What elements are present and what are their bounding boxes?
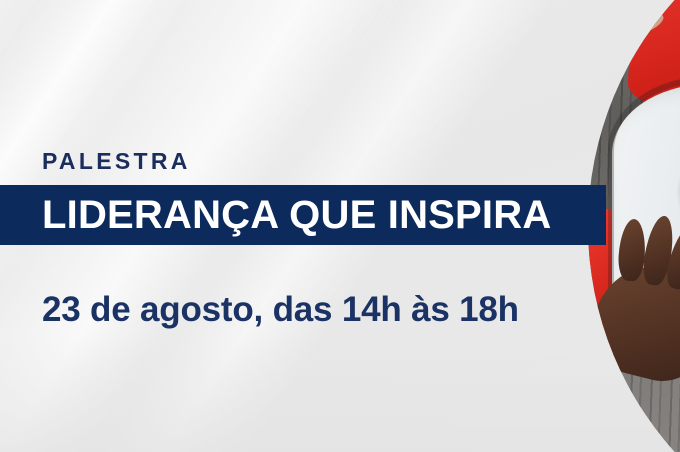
title-band: LIDERANÇA QUE INSPIRA: [0, 185, 606, 245]
palestra-poster: PALESTRA LIDERANÇA QUE INSPIRA 23 de ago…: [0, 0, 680, 452]
event-date-time: 23 de agosto, das 14h às 18h: [42, 288, 519, 332]
page-title: LIDERANÇA QUE INSPIRA: [0, 195, 551, 235]
background-bottom-shade: [0, 332, 680, 452]
kicker-label: PALESTRA: [42, 150, 191, 173]
